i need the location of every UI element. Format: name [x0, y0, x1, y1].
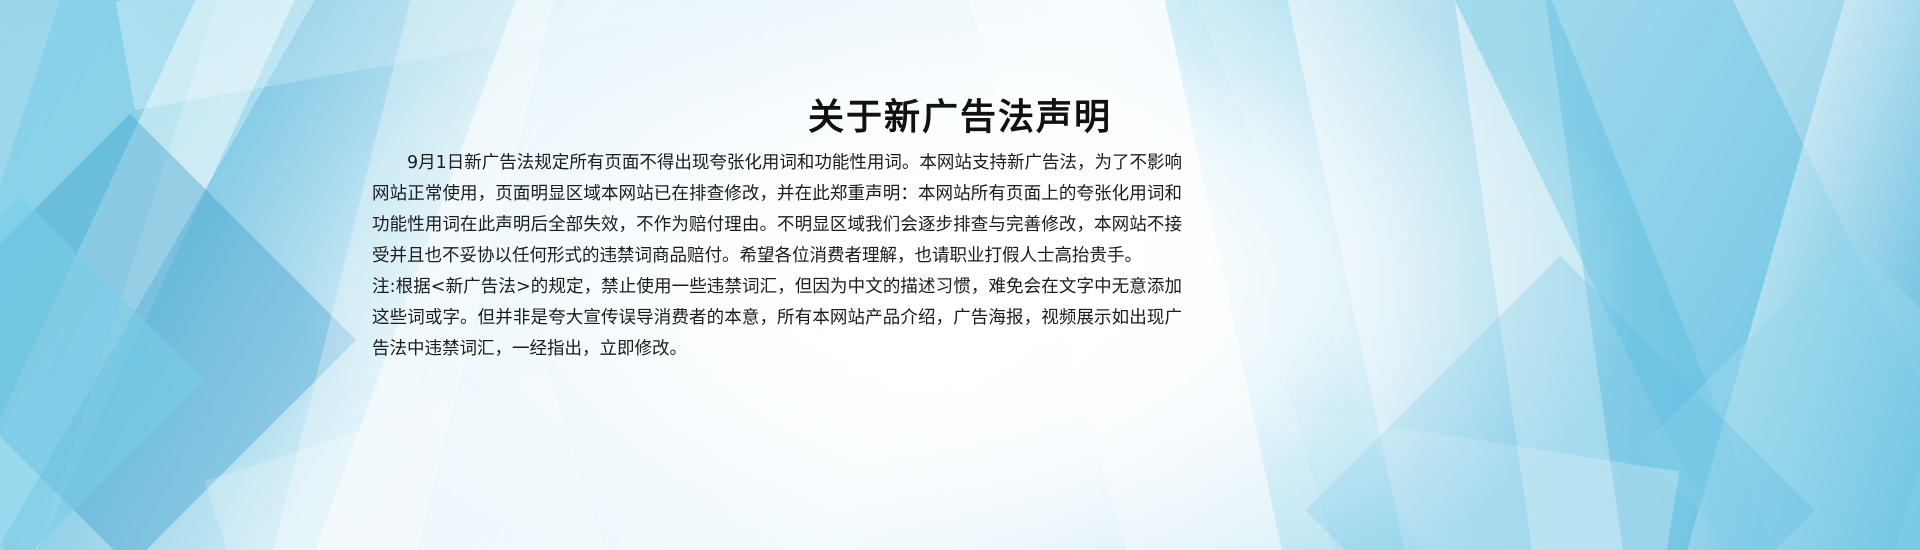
legal-statement-banner: 关于新广告法声明 9月1日新广告法规定所有页面不得出现夸张化用词和功能性用词。本…	[0, 0, 1920, 550]
banner-content: 关于新广告法声明 9月1日新广告法规定所有页面不得出现夸张化用词和功能性用词。本…	[0, 0, 1920, 550]
statement-paragraph-1: 9月1日新广告法规定所有页面不得出现夸张化用词和功能性用词。本网站支持新广告法，…	[372, 148, 1182, 272]
statement-paragraph-2: 注:根据<新广告法>的规定，禁止使用一些违禁词汇，但因为中文的描述习惯，难免会在…	[372, 272, 1182, 365]
page-title: 关于新广告法声明	[0, 88, 1920, 140]
statement-body: 9月1日新广告法规定所有页面不得出现夸张化用词和功能性用词。本网站支持新广告法，…	[372, 148, 1182, 365]
